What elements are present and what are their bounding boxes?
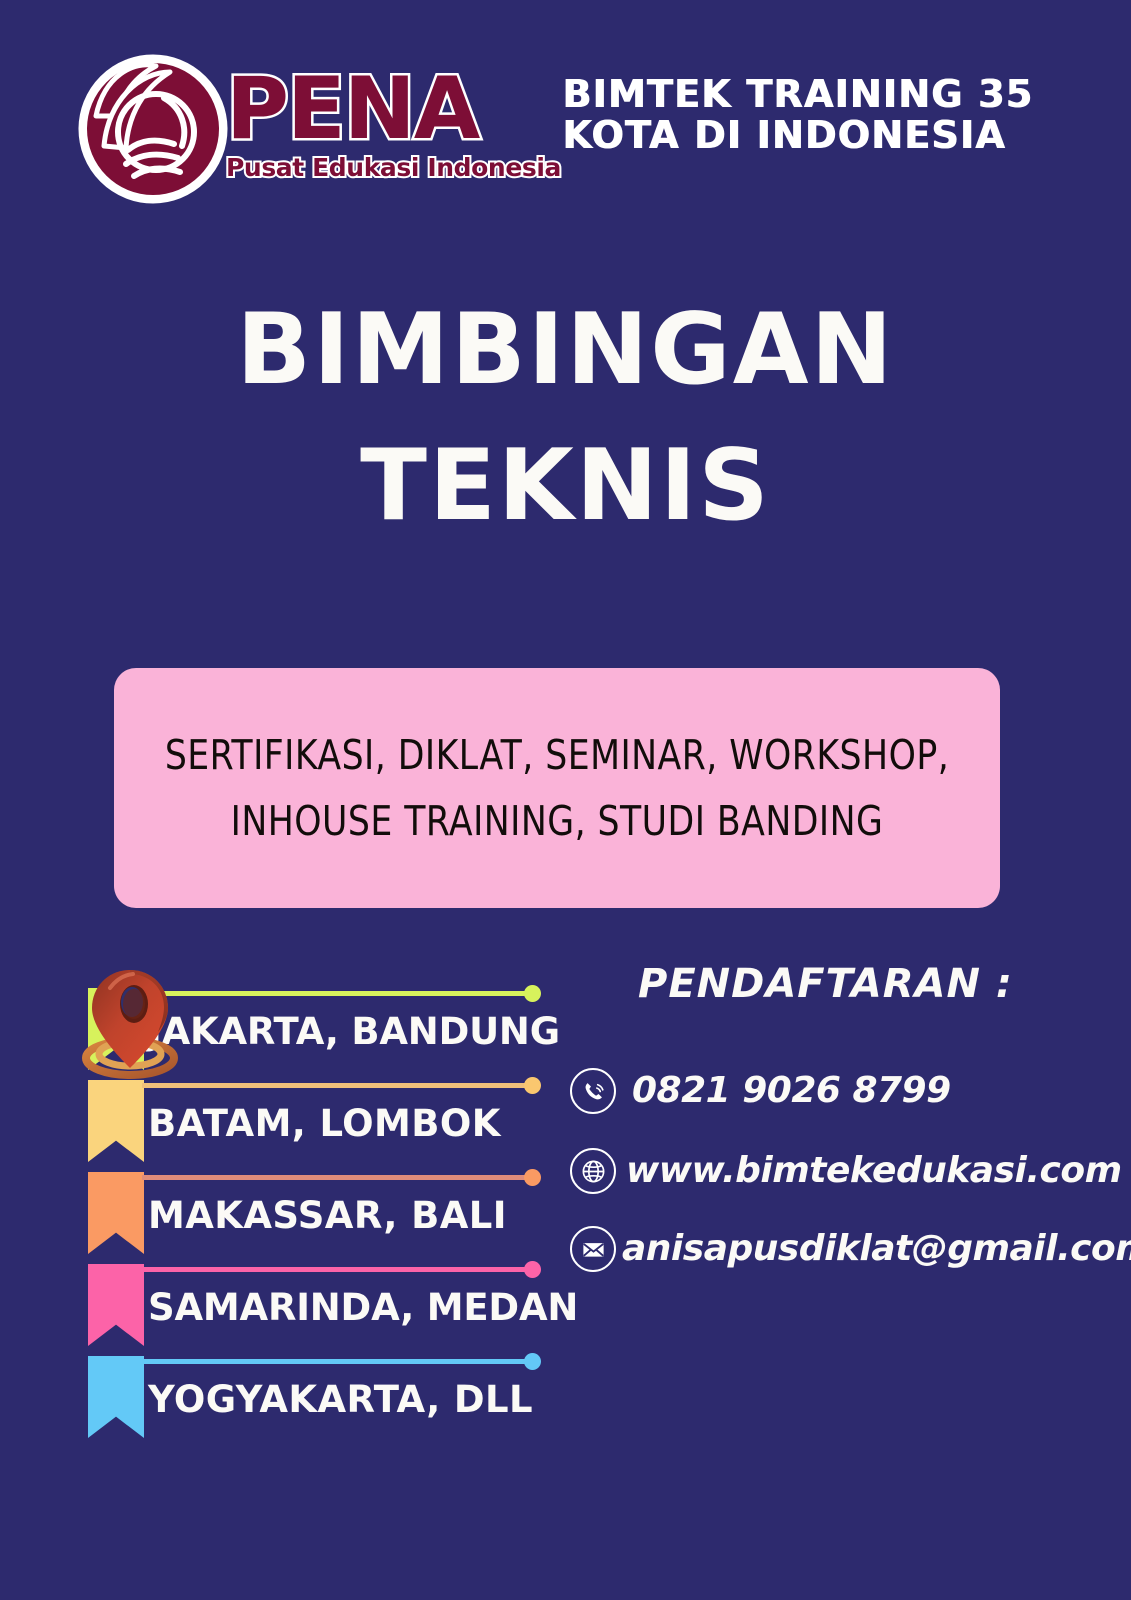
connector-line	[142, 1083, 534, 1088]
bookmark-icon	[88, 1080, 144, 1162]
bookmark-icon	[88, 1356, 144, 1438]
city-label: SAMARINDA, MEDAN	[148, 1284, 628, 1332]
connector-line	[142, 1267, 534, 1272]
brand-tagline: Pusat Edukasi Indonesia	[226, 154, 576, 182]
mail-icon[interactable]	[570, 1226, 616, 1272]
city-list: JAKARTA, BANDUNG BATAM, LOMBOKMAKASSAR, …	[88, 988, 558, 1458]
page-title-line2: TEKNIS	[0, 432, 1131, 540]
globe-icon[interactable]	[570, 1148, 616, 1194]
connector-dot	[524, 1353, 541, 1370]
pena-globe-logo-icon	[78, 54, 228, 204]
contact-row[interactable]: www.bimtekedukasi.com	[570, 1148, 1122, 1194]
contact-row[interactable]: anisapusdiklat@gmail.com	[570, 1226, 1131, 1272]
services-text: SERTIFIKASI, DIKLAT, SEMINAR, WORKSHOP, …	[152, 722, 962, 854]
registration-contact: PENDAFTARAN : 0821 9026 8799 www.bimteke…	[570, 960, 1130, 1280]
city-row: JAKARTA, BANDUNG	[88, 988, 558, 1080]
brand-logo: PENA Pusat Edukasi Indonesia	[78, 48, 578, 213]
bookmark-icon	[88, 1264, 144, 1346]
connector-dot	[524, 1077, 541, 1094]
city-label: MAKASSAR, BALI	[148, 1192, 628, 1240]
contact-value[interactable]: anisapusdiklat@gmail.com	[622, 1227, 1131, 1271]
city-row: YOGYAKARTA, DLL	[88, 1356, 558, 1448]
contact-value[interactable]: 0821 9026 8799	[632, 1069, 951, 1113]
contact-row[interactable]: 0821 9026 8799	[570, 1068, 951, 1114]
connector-dot	[524, 1169, 541, 1186]
page-title-line1: BIMBINGAN	[0, 296, 1131, 404]
city-row: MAKASSAR, BALI	[88, 1172, 558, 1264]
city-label: BATAM, LOMBOK	[148, 1100, 628, 1148]
city-label: JAKARTA, BANDUNG	[148, 1008, 628, 1056]
contact-value[interactable]: www.bimtekedukasi.com	[626, 1149, 1122, 1193]
poster-header: PENA Pusat Edukasi Indonesia BIMTEK TRAI…	[0, 42, 1131, 222]
header-title: BIMTEK TRAINING 35 KOTA DI INDONESIA	[562, 74, 1033, 156]
city-label: YOGYAKARTA, DLL	[148, 1376, 628, 1424]
brand-wordmark: PENA	[226, 66, 576, 152]
registration-heading: PENDAFTARAN :	[638, 960, 1013, 1008]
connector-line	[142, 1175, 534, 1180]
connector-line	[142, 991, 534, 996]
connector-dot	[524, 1261, 541, 1278]
connector-line	[142, 1359, 534, 1364]
city-row: BATAM, LOMBOK	[88, 1080, 558, 1172]
bookmark-icon	[88, 988, 144, 1070]
brand-wordmark-block: PENA Pusat Edukasi Indonesia	[226, 66, 576, 196]
bookmark-icon	[88, 1172, 144, 1254]
connector-dot	[524, 985, 541, 1002]
services-box: SERTIFIKASI, DIKLAT, SEMINAR, WORKSHOP, …	[114, 668, 1000, 908]
city-row: SAMARINDA, MEDAN	[88, 1264, 558, 1356]
page-title: BIMBINGAN TEKNIS	[0, 296, 1131, 540]
phone-icon[interactable]	[570, 1068, 616, 1114]
poster-root: PENA Pusat Edukasi Indonesia BIMTEK TRAI…	[0, 0, 1131, 1600]
